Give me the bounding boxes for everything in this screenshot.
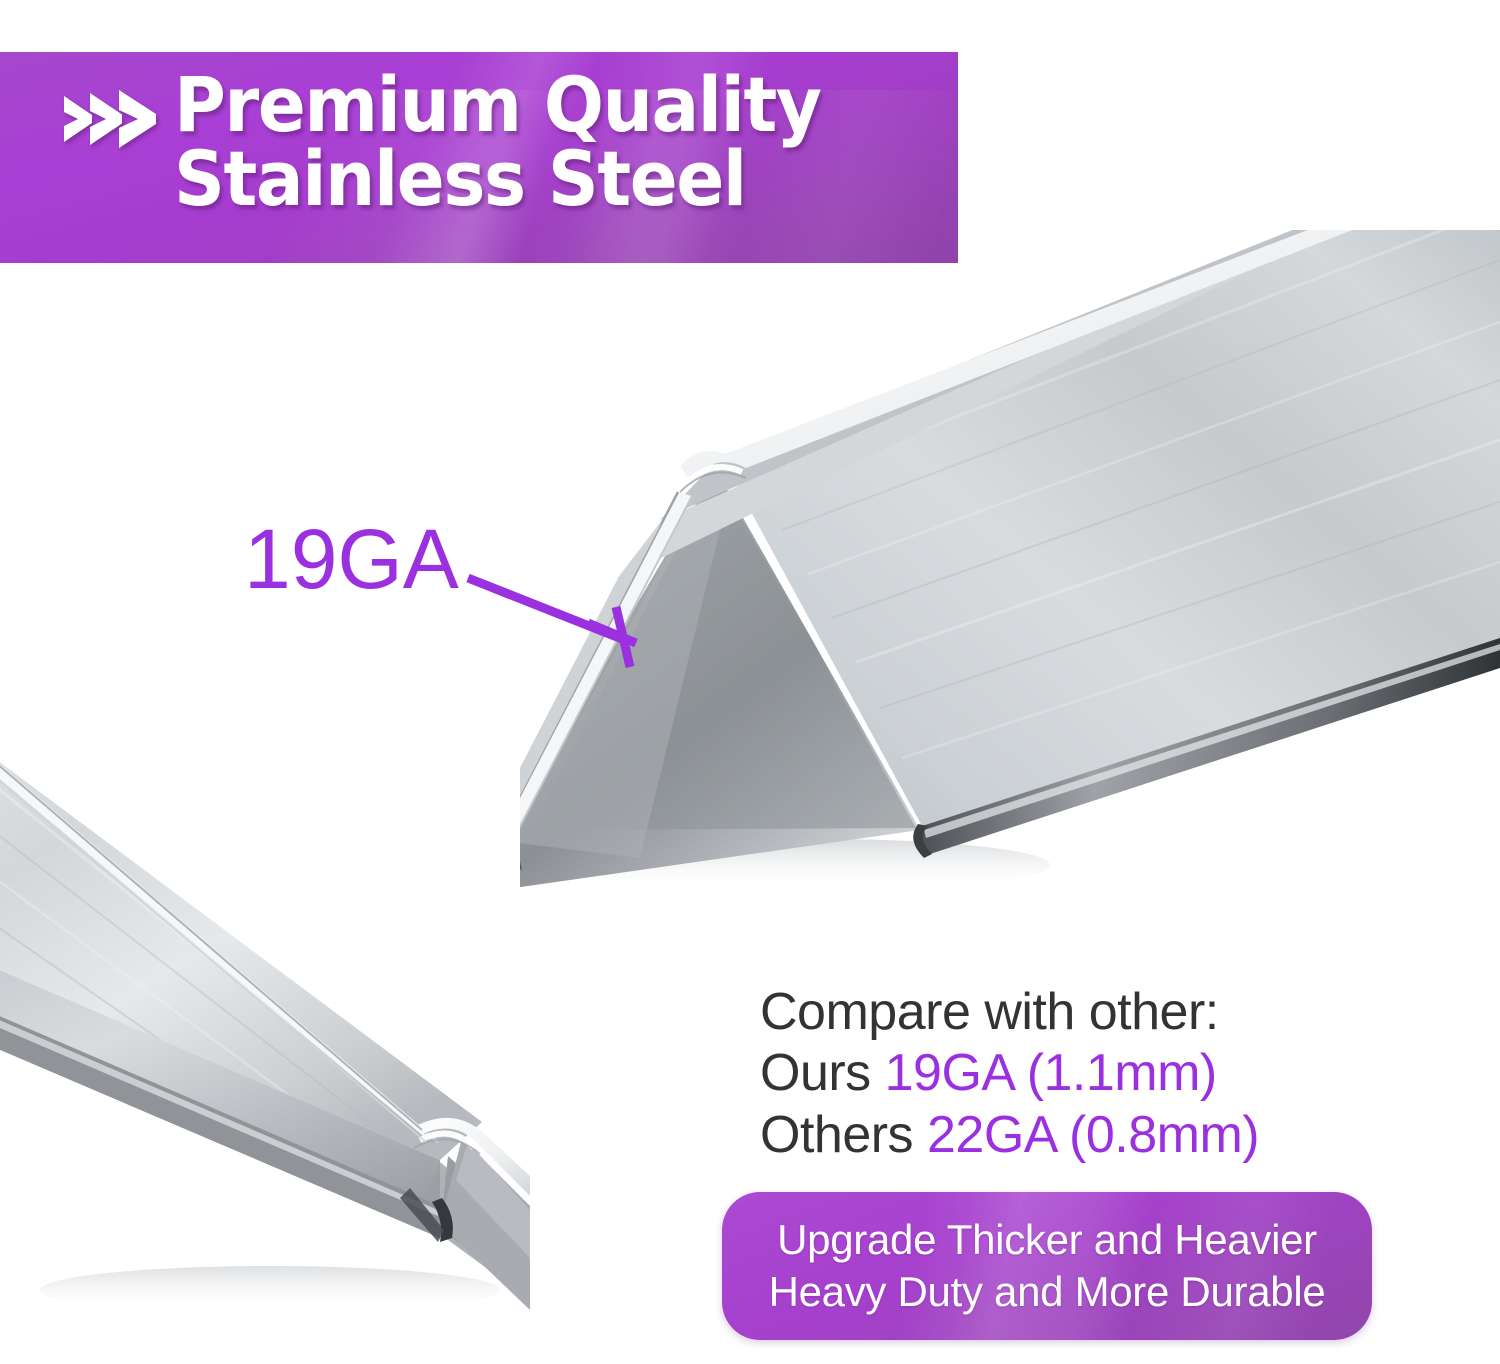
comparison-row-ours: Ours 19GA (1.1mm) — [760, 1043, 1400, 1104]
comparison-row-others-value: 22GA (0.8mm) — [927, 1106, 1259, 1164]
comparison-row-ours-value: 19GA (1.1mm) — [885, 1044, 1217, 1102]
page-title: Premium Quality Stainless Steel — [174, 68, 821, 217]
stainless-steel-flavorizer-bar-secondary — [0, 690, 530, 1364]
double-chevron-right-icon — [62, 90, 158, 153]
comparison-row-ours-label: Ours — [760, 1044, 885, 1102]
comparison-text-block: Compare with other: Ours 19GA (1.1mm) Ot… — [760, 982, 1400, 1166]
upgrade-badge: Upgrade Thicker and Heavier Heavy Duty a… — [722, 1192, 1372, 1340]
gauge-callout-label: 19GA — [244, 511, 459, 608]
comparison-heading: Compare with other: — [760, 982, 1400, 1043]
header-banner-content: Premium Quality Stainless Steel — [0, 52, 958, 217]
leader-line-with-tick-icon — [440, 545, 670, 685]
comparison-row-others: Others 22GA (0.8mm) — [760, 1105, 1400, 1166]
upgrade-badge-text: Upgrade Thicker and Heavier Heavy Duty a… — [769, 1214, 1326, 1317]
infographic-canvas: Premium Quality Stainless Steel — [0, 0, 1500, 1364]
comparison-row-others-label: Others — [760, 1106, 927, 1164]
header-banner: Premium Quality Stainless Steel — [0, 52, 958, 263]
